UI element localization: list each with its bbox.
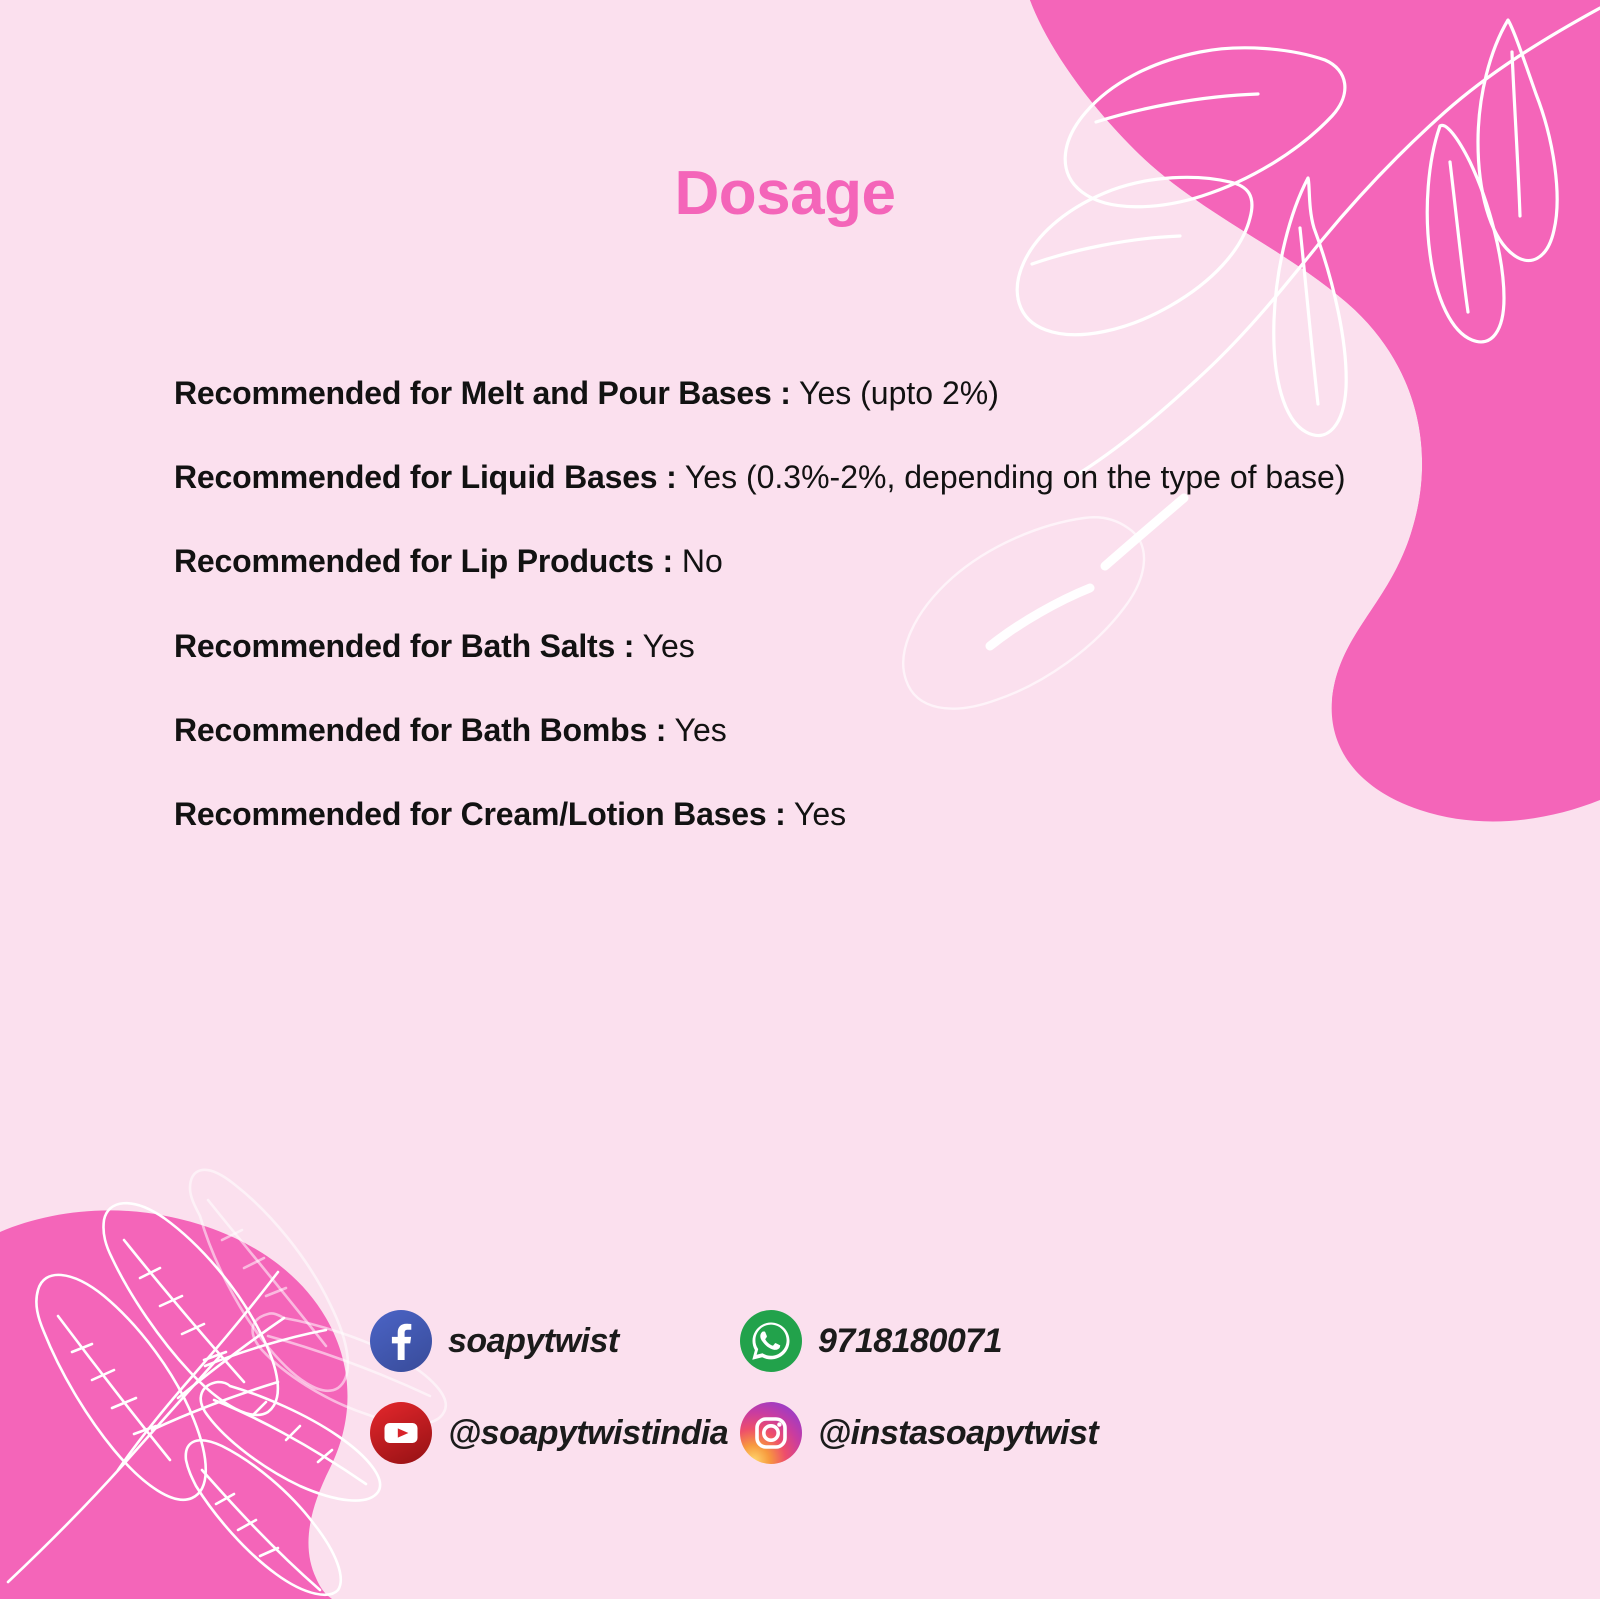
dosage-value: Yes: [666, 712, 727, 748]
dosage-value: No: [673, 543, 723, 579]
dosage-value: Yes (0.3%-2%, depending on the type of b…: [677, 459, 1346, 495]
dosage-label: Recommended for Bath Bombs :: [174, 712, 666, 748]
instagram-icon[interactable]: [740, 1402, 802, 1464]
social-item-whatsapp[interactable]: 9718180071: [740, 1310, 1160, 1372]
social-item-instagram[interactable]: @instasoapytwist: [740, 1402, 1160, 1464]
youtube-handle: @soapytwistindia: [448, 1414, 728, 1453]
instagram-handle: @instasoapytwist: [818, 1414, 1098, 1453]
dosage-row-bath-salts: Recommended for Bath Salts : Yes: [174, 625, 1442, 667]
pink-blob-bottom-left: [0, 1210, 348, 1599]
dosage-row-bath-bombs: Recommended for Bath Bombs : Yes: [174, 709, 1442, 751]
facebook-icon[interactable]: [370, 1310, 432, 1372]
dosage-row-cream-lotion-bases: Recommended for Cream/Lotion Bases : Yes: [174, 793, 1442, 835]
whatsapp-handle: 9718180071: [818, 1322, 1002, 1361]
page-title: Dosage: [0, 158, 1570, 229]
whatsapp-icon[interactable]: [740, 1310, 802, 1372]
social-row-top: soapytwist 9718180071: [370, 1295, 1230, 1387]
facebook-handle: soapytwist: [448, 1322, 619, 1361]
dosage-label: Recommended for Bath Salts :: [174, 628, 634, 664]
dosage-value: Yes: [634, 628, 695, 664]
dosage-value: Yes: [786, 796, 847, 832]
social-item-youtube[interactable]: @soapytwistindia: [370, 1402, 740, 1464]
youtube-icon[interactable]: [370, 1402, 432, 1464]
dosage-label: Recommended for Liquid Bases :: [174, 459, 677, 495]
poster-canvas: Dosage Recommended for Melt and Pour Bas…: [0, 0, 1600, 1599]
social-footer: soapytwist 9718180071: [370, 1295, 1230, 1479]
dosage-list: Recommended for Melt and Pour Bases : Ye…: [174, 372, 1442, 835]
dosage-row-liquid-bases: Recommended for Liquid Bases : Yes (0.3%…: [174, 456, 1442, 498]
dosage-row-melt-and-pour: Recommended for Melt and Pour Bases : Ye…: [174, 372, 1442, 414]
social-item-facebook[interactable]: soapytwist: [370, 1310, 740, 1372]
dosage-label: Recommended for Melt and Pour Bases :: [174, 375, 791, 411]
social-row-bottom: @soapytwistindia: [342, 1387, 1230, 1479]
dosage-value: Yes (upto 2%): [791, 375, 999, 411]
dosage-row-lip-products: Recommended for Lip Products : No: [174, 540, 1442, 582]
dosage-label: Recommended for Cream/Lotion Bases :: [174, 796, 786, 832]
dosage-label: Recommended for Lip Products :: [174, 543, 673, 579]
